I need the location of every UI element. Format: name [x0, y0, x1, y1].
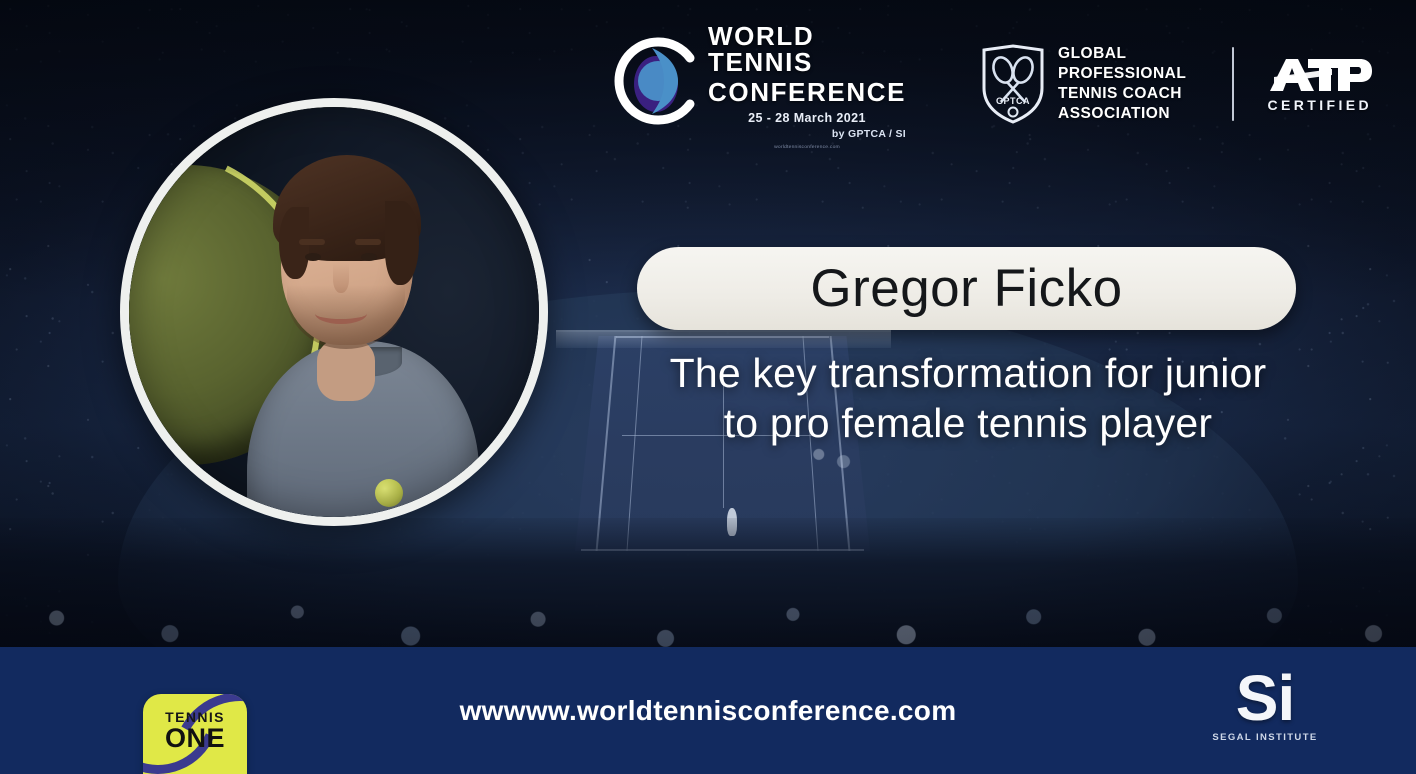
wtc-small-url: worldtennisconference.com — [708, 145, 906, 149]
gptca-text: GLOBAL PROFESSIONAL TENNIS COACH ASSOCIA… — [1058, 44, 1202, 123]
segal-institute-mark: Si — [1206, 668, 1324, 729]
wtc-line-1: WORLD TENNIS — [708, 23, 906, 75]
gptca-logo: GPTCA GLOBAL PROFESSIONAL TENNIS COACH A… — [980, 44, 1202, 124]
talk-title-line-2: to pro female tennis player — [630, 398, 1306, 448]
talk-title-line-1: The key transformation for junior — [630, 348, 1306, 398]
atp-certified-label: CERTIFIED — [1268, 97, 1373, 113]
presentation-slide: WORLD TENNIS CONFERENCE 25 - 28 March 20… — [0, 0, 1416, 774]
header-divider — [1232, 47, 1234, 121]
speaker-avatar — [120, 98, 548, 526]
world-tennis-conference-logo: WORLD TENNIS CONFERENCE 25 - 28 March 20… — [612, 19, 906, 150]
speaker-name-badge: Gregor Ficko — [637, 247, 1296, 330]
wtc-byline: by GPTCA / SI — [708, 129, 906, 140]
world-tennis-conference-mark-icon — [612, 34, 698, 134]
tennis-one-line-2: ONE — [143, 725, 247, 752]
tennis-net — [556, 330, 891, 348]
header-logo-strip: WORLD TENNIS CONFERENCE 25 - 28 March 20… — [612, 24, 1372, 144]
talk-title: The key transformation for junior to pro… — [630, 348, 1306, 448]
speaker-name: Gregor Ficko — [810, 258, 1122, 319]
gptca-line-1: GLOBAL PROFESSIONAL — [1058, 44, 1202, 84]
tennis-one-line-1: TENNIS — [143, 710, 247, 724]
gptca-line-2: TENNIS COACH ASSOCIATION — [1058, 84, 1202, 124]
wtc-dates: 25 - 28 March 2021 — [708, 112, 906, 125]
gptca-shield-icon: GPTCA — [980, 44, 1046, 124]
crowd-heads — [0, 528, 1416, 648]
segal-institute-label: SEGAL INSTITUTE — [1206, 732, 1324, 743]
segal-institute-logo-icon[interactable]: Si SEGAL INSTITUTE — [1206, 668, 1324, 768]
tennis-one-logo-icon[interactable]: TENNIS ONE — [143, 694, 247, 774]
tennis-one-wordmark: TENNIS ONE — [143, 710, 247, 752]
svg-text:GPTCA: GPTCA — [996, 96, 1030, 106]
speaker-photo — [129, 107, 539, 517]
atp-certified-logo: CERTIFIED — [1268, 55, 1373, 113]
wtc-line-2: CONFERENCE — [708, 79, 906, 105]
atp-logo-icon — [1268, 55, 1372, 95]
world-tennis-conference-text: WORLD TENNIS CONFERENCE 25 - 28 March 20… — [708, 19, 906, 150]
